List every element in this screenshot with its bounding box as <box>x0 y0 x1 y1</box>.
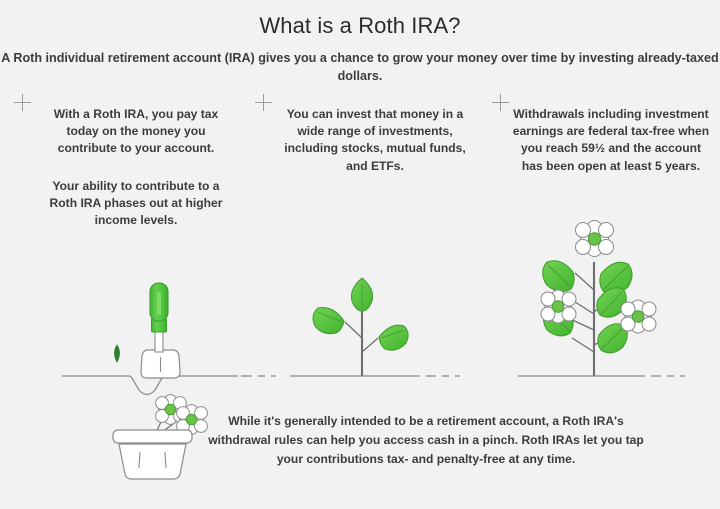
plus-icon <box>492 94 509 111</box>
plant-branch-upper-left <box>575 273 594 290</box>
plant-leaf-lower-left <box>544 308 574 336</box>
plant-branch-mid-right <box>594 300 610 312</box>
trowel-blade <box>141 350 180 378</box>
sapling-illustration <box>290 278 460 376</box>
footer: While it's generally intended to be a re… <box>0 400 720 480</box>
plant-leaf-lower-right <box>598 324 627 353</box>
plant-leaf-middle <box>597 288 626 317</box>
trowel-handle-highlight <box>157 292 161 315</box>
feature-columns: With a Roth IRA, you pay tax today on th… <box>0 92 720 229</box>
column-withdrawals: Withdrawals including investment earning… <box>488 92 720 229</box>
sapling-leaf-top <box>351 278 372 311</box>
ground-line-hole <box>62 376 238 395</box>
plus-icon <box>255 94 272 111</box>
header: What is a Roth IRA? A Roth individual re… <box>0 0 720 85</box>
plant-leaf-upper-right <box>600 262 632 293</box>
column-3-paragraph-1: Withdrawals including investment earning… <box>512 92 710 175</box>
page-title: What is a Roth IRA? <box>0 0 720 39</box>
plant-branch-flower-left <box>568 318 594 330</box>
trowel-ferrule <box>152 318 167 332</box>
sapling-branch-left <box>345 322 362 338</box>
plus-icon <box>14 94 31 111</box>
plant-leaf-upper-left <box>543 261 574 292</box>
column-1-paragraph-2: Your ability to contribute to a Roth IRA… <box>42 158 230 230</box>
sapling-leaf-left <box>313 308 344 334</box>
column-tax-today: With a Roth IRA, you pay tax today on th… <box>0 92 248 229</box>
plant-branch-flower-right <box>594 330 622 345</box>
trowel-shaft <box>155 330 163 352</box>
plant-branch-lower-left <box>572 338 594 352</box>
trowel-handle <box>150 283 168 321</box>
seed-icon <box>115 345 120 362</box>
roth-ira-infographic: What is a Roth IRA? A Roth individual re… <box>0 0 720 509</box>
column-invest: You can invest that money in a wide rang… <box>248 92 488 229</box>
trowel-and-seed-illustration <box>62 283 276 395</box>
page-subtitle: A Roth individual retirement account (IR… <box>0 39 720 85</box>
flower-center <box>552 301 564 313</box>
flower-center <box>632 311 644 323</box>
flower-center <box>588 233 600 245</box>
column-2-paragraph-1: You can invest that money in a wide rang… <box>274 92 476 175</box>
flowering-plant-illustration <box>518 221 685 377</box>
footer-paragraph: While it's generally intended to be a re… <box>196 412 656 469</box>
flower-right <box>621 300 656 333</box>
flower-left <box>541 290 576 323</box>
sapling-leaf-right <box>379 325 408 350</box>
column-1-paragraph-1: With a Roth IRA, you pay tax today on th… <box>42 92 230 158</box>
plant-branch-left-leaf <box>572 300 594 314</box>
sapling-branch-right <box>362 338 378 352</box>
